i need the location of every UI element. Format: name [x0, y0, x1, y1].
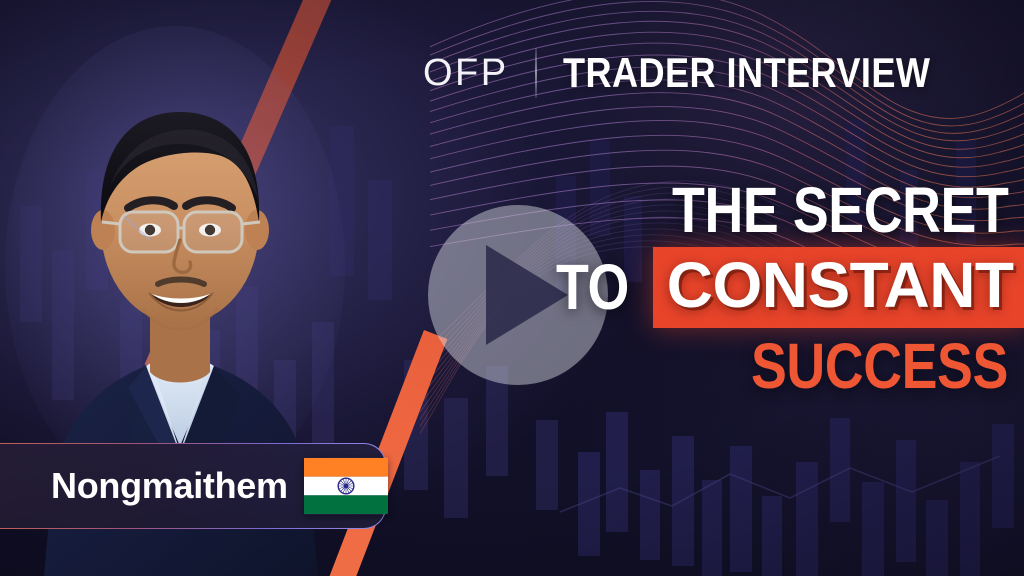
- headline-text-the-secret: THE SECRET: [672, 178, 1008, 243]
- guest-name-badge: Nongmaithem: [0, 443, 386, 529]
- headline-text-success: SUCCESS: [751, 334, 1008, 399]
- vertical-divider-icon: [535, 48, 537, 98]
- brand-header: OFP TRADER INTERVIEW: [423, 47, 990, 99]
- guest-name: Nongmaithem: [51, 468, 288, 504]
- video-thumbnail: OFP TRADER INTERVIEW THE SECRET TO CONST…: [0, 0, 1024, 576]
- india-flag-icon: [304, 457, 388, 515]
- ofp-logo: OFP: [423, 54, 509, 92]
- headline-block: THE SECRET TO CONSTANT SUCCESS: [556, 178, 1008, 399]
- india-flag-svg: [304, 457, 388, 515]
- headline-highlight-box: CONSTANT: [653, 247, 1024, 327]
- headline-line-2: TO CONSTANT: [556, 247, 1008, 327]
- headline-text-constant: CONSTANT: [667, 249, 1014, 321]
- headline-line-1: THE SECRET: [556, 178, 1008, 243]
- headline-text-to: TO: [556, 255, 629, 320]
- section-label: TRADER INTERVIEW: [563, 52, 930, 94]
- headline-line-3: SUCCESS: [556, 334, 1008, 399]
